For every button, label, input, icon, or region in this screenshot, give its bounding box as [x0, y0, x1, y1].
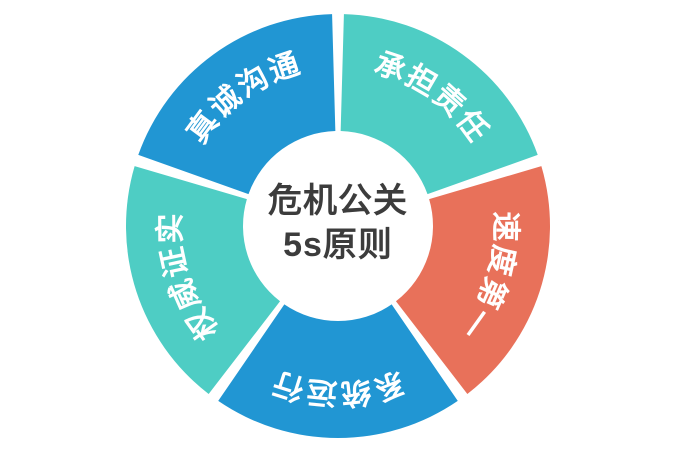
center-label-line1: 危机公关 — [268, 182, 408, 220]
center-label-line2: 5s原则 — [283, 226, 393, 264]
crisis-pr-donut-infographic: 承担责任 速度第一 系统运行 权威证实 真诚沟通 危机公关 5s原则 — [0, 0, 676, 451]
donut-center-label: 危机公关 5s原则 — [268, 182, 408, 264]
donut-chart: 承担责任 速度第一 系统运行 权威证实 真诚沟通 危机公关 5s原则 — [0, 0, 676, 451]
